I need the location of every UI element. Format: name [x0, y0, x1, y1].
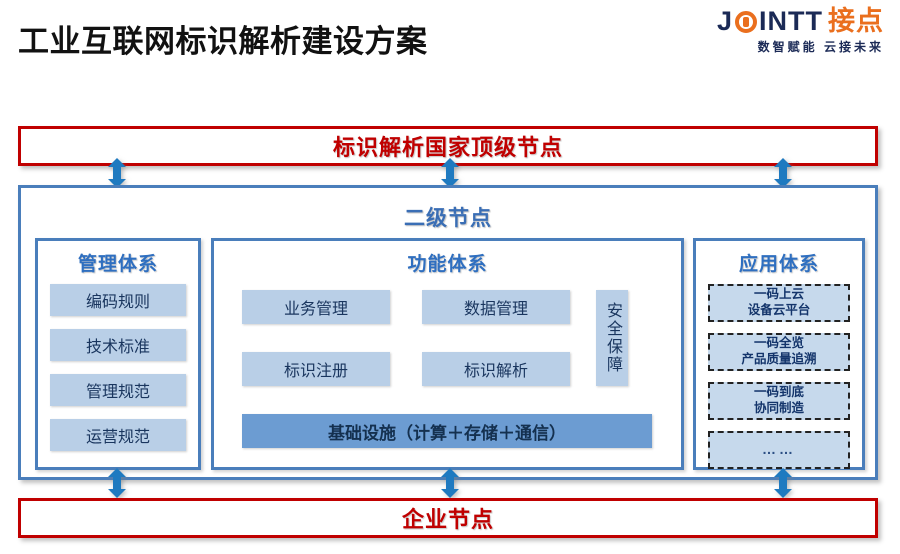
slide-root: 工业互联网标识解析建设方案 J INTT 接点 数智赋能 云接未来 标识解析国家… — [0, 0, 900, 554]
logo-chinese-name: 接点 — [828, 8, 884, 35]
logo-letter-j: J — [717, 8, 733, 35]
application-item-line2: 产品质量追溯 — [741, 352, 816, 368]
logo-wordmark: J INTT 接点 — [717, 8, 884, 35]
double-arrow-vertical-icon — [437, 158, 463, 188]
list-item[interactable]: 技术标准 — [50, 329, 186, 361]
application-item-line2: 设备云平台 — [748, 303, 811, 319]
application-item[interactable]: …… — [708, 431, 850, 469]
security-assurance-label: 安全保障 — [604, 302, 620, 374]
list-item[interactable]: 编码规则 — [50, 284, 186, 316]
double-arrow-vertical-icon — [437, 468, 463, 498]
application-item[interactable]: 一码上云 设备云平台 — [708, 284, 850, 322]
application-item-line1: 一码上云 — [754, 287, 804, 303]
application-item[interactable]: 一码到底 协同制造 — [708, 382, 850, 420]
panel-application-system: 应用体系 一码上云 设备云平台 一码全览 产品质量追溯 一码到底 协同制造 …… — [693, 238, 865, 470]
function-cell[interactable]: 数据管理 — [422, 290, 570, 324]
list-item[interactable]: 运营规范 — [50, 419, 186, 451]
logo-tagline: 数智赋能 云接未来 — [717, 41, 884, 53]
function-cell-grid: 业务管理 数据管理 标识注册 标识解析 安全保障 基础设施（计算＋存储＋通信） — [214, 276, 681, 461]
function-cell[interactable]: 标识注册 — [242, 352, 390, 386]
application-item-line1: …… — [762, 441, 796, 459]
application-item-line1: 一码全览 — [754, 336, 804, 352]
panel-application-title: 应用体系 — [696, 249, 862, 276]
enterprise-node-box: 企业节点 — [18, 498, 878, 538]
panel-function-system: 功能体系 业务管理 数据管理 标识注册 标识解析 安全保障 基础设施（计算＋存储… — [211, 238, 684, 470]
level2-title: 二级节点 — [21, 202, 875, 232]
panel-management-system: 管理体系 编码规则 技术标准 管理规范 运营规范 — [35, 238, 201, 470]
function-cell[interactable]: 业务管理 — [242, 290, 390, 324]
panel-management-title: 管理体系 — [38, 249, 198, 276]
double-arrow-vertical-icon — [104, 158, 130, 188]
application-item-line2: 协同制造 — [754, 401, 804, 417]
security-assurance-box[interactable]: 安全保障 — [596, 290, 628, 386]
enterprise-node-label: 企业节点 — [402, 502, 494, 534]
double-arrow-vertical-icon — [770, 468, 796, 498]
application-item-line1: 一码到底 — [754, 385, 804, 401]
brand-logo: J INTT 接点 数智赋能 云接未来 — [717, 8, 884, 53]
list-item[interactable]: 管理规范 — [50, 374, 186, 406]
double-arrow-vertical-icon — [104, 468, 130, 498]
target-ring-icon — [735, 11, 757, 33]
application-item[interactable]: 一码全览 产品质量追溯 — [708, 333, 850, 371]
function-cell[interactable]: 标识解析 — [422, 352, 570, 386]
application-item-list: 一码上云 设备云平台 一码全览 产品质量追溯 一码到底 协同制造 …… — [696, 284, 862, 469]
level2-node-container: 二级节点 管理体系 编码规则 技术标准 管理规范 运营规范 功能体系 业务管理 … — [18, 185, 878, 480]
page-title: 工业互联网标识解析建设方案 — [18, 16, 428, 61]
panel-function-title: 功能体系 — [214, 249, 681, 276]
management-item-list: 编码规则 技术标准 管理规范 运营规范 — [38, 284, 198, 451]
infrastructure-bar[interactable]: 基础设施（计算＋存储＋通信） — [242, 414, 652, 448]
double-arrow-vertical-icon — [770, 158, 796, 188]
logo-letters-intt: INTT — [759, 8, 823, 35]
